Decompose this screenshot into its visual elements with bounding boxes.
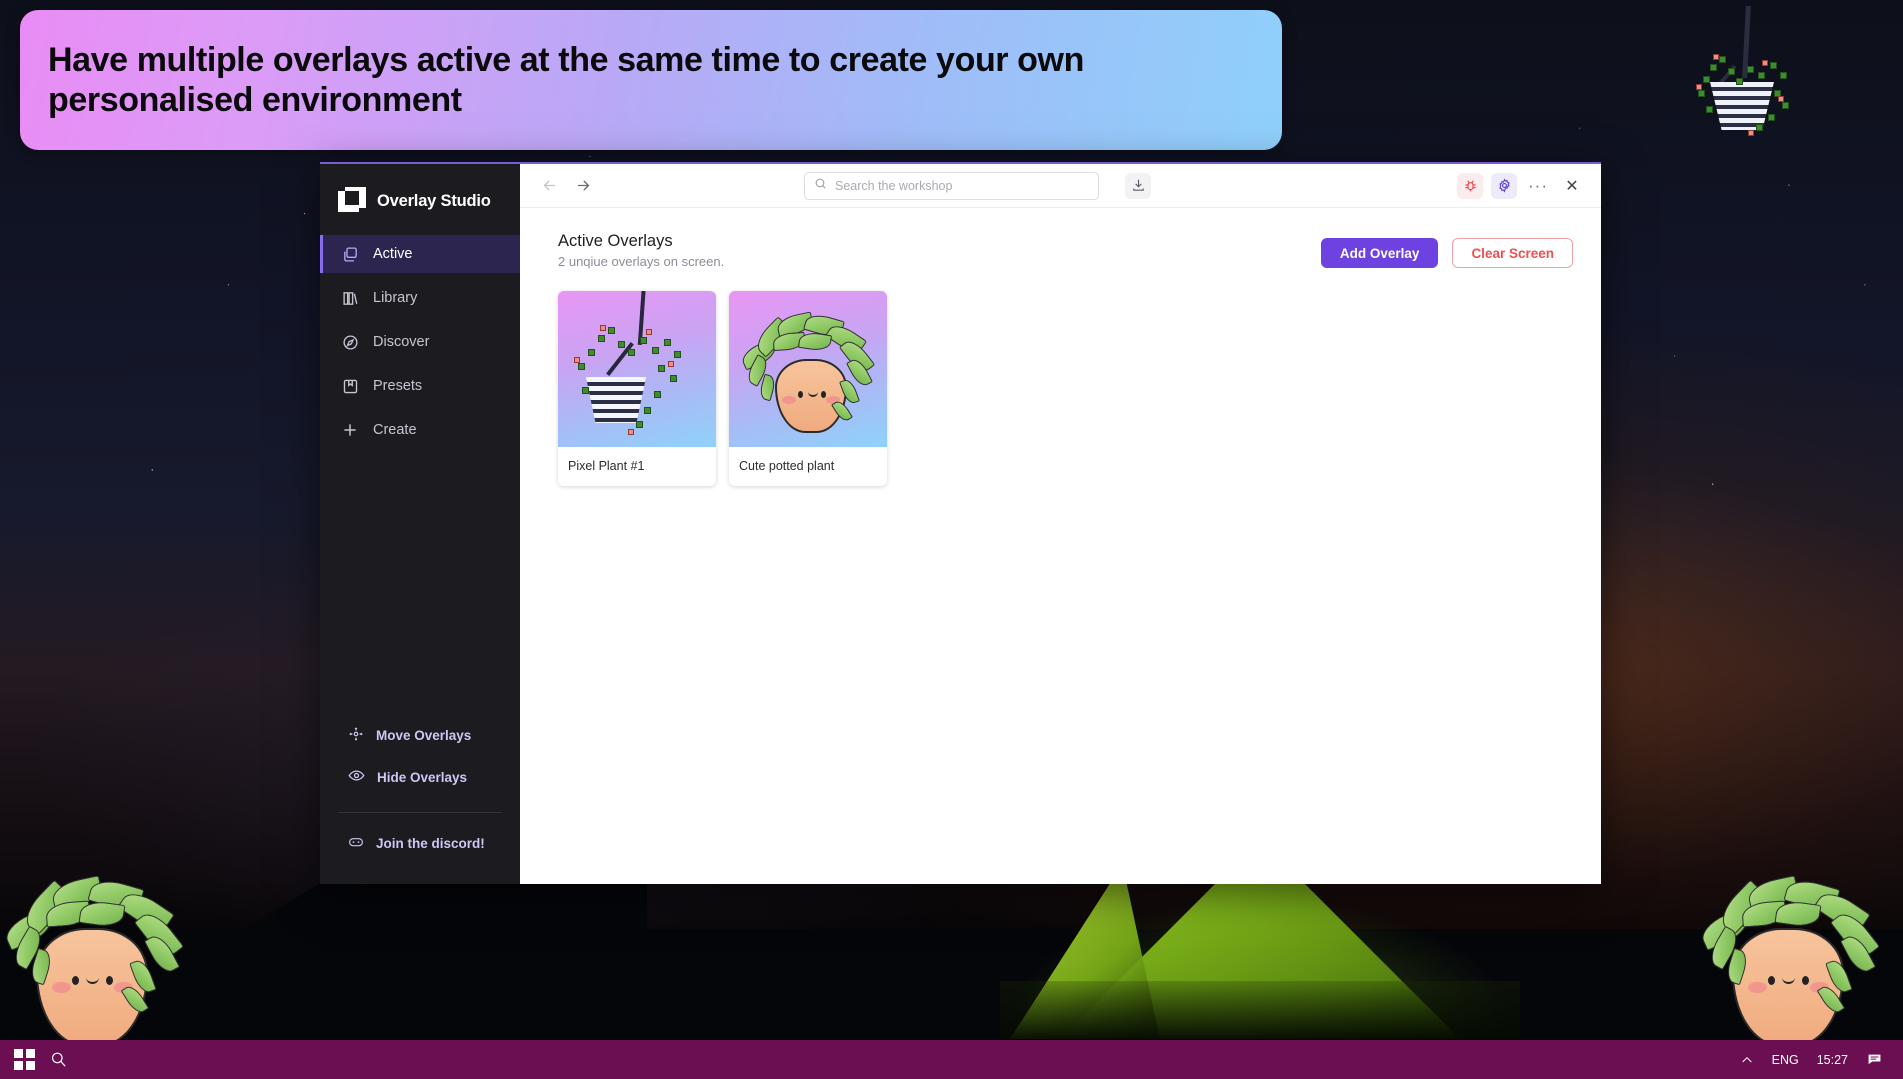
compass-icon: [341, 333, 359, 351]
content-area: Active Overlays 2 unqiue overlays on scr…: [520, 208, 1601, 884]
move-overlays-button[interactable]: Move Overlays: [320, 715, 520, 756]
eye-right: [1802, 976, 1809, 985]
overlay-thumbnail: [729, 291, 887, 447]
arrow-left-icon[interactable]: [536, 173, 562, 199]
windows-taskbar: ENG 15:27: [0, 1040, 1903, 1079]
download-icon[interactable]: [1125, 173, 1151, 199]
overlay-card[interactable]: Pixel Plant #1: [558, 291, 716, 486]
join-discord-button[interactable]: Join the discord!: [320, 823, 520, 864]
sidebar-item-create[interactable]: Create: [320, 411, 520, 449]
sidebar-divider: [338, 812, 502, 813]
eye-right: [106, 976, 113, 985]
overlay-card-label: Cute potted plant: [729, 447, 887, 486]
notification-icon[interactable]: [1866, 1051, 1883, 1068]
promo-banner: Have multiple overlays active at the sam…: [20, 10, 1282, 150]
chevron-up-icon[interactable]: [1740, 1053, 1754, 1067]
window-titlebar: ··· ✕: [520, 164, 1601, 208]
add-overlay-button[interactable]: Add Overlay: [1321, 238, 1439, 268]
clear-screen-button[interactable]: Clear Screen: [1452, 238, 1573, 268]
hide-overlays-label: Hide Overlays: [377, 770, 467, 785]
taskbar-tray: ENG 15:27: [1740, 1051, 1897, 1068]
sidebar-item-label: Discover: [373, 334, 429, 350]
sidebar-nav: Active Library Discover: [320, 235, 520, 455]
discord-icon: [348, 834, 364, 853]
sidebar-item-label: Presets: [373, 378, 422, 394]
desktop-overlay-pixel-hanging-plant[interactable]: [1686, 6, 1816, 136]
blush-left: [782, 396, 796, 404]
overlay-studio-logo-icon: [338, 187, 366, 215]
sidebar-item-label: Active: [373, 246, 413, 262]
overlay-thumbnail: [558, 291, 716, 447]
pot: [1708, 82, 1776, 130]
overlay-card-label: Pixel Plant #1: [558, 447, 716, 486]
layers-icon: [341, 245, 359, 263]
sidebar-item-label: Create: [373, 422, 417, 438]
page-title: Active Overlays: [558, 232, 724, 251]
app-brand-label: Overlay Studio: [377, 192, 491, 211]
blush-left: [1748, 982, 1767, 993]
move-icon: [348, 726, 364, 745]
sidebar-item-presets[interactable]: Presets: [320, 367, 520, 405]
desktop-overlay-kawaii-plant-left[interactable]: [0, 872, 194, 1042]
eye-left: [72, 976, 79, 985]
windows-start-icon[interactable]: [14, 1049, 35, 1070]
taskbar-clock[interactable]: 15:27: [1817, 1053, 1848, 1067]
join-discord-label: Join the discord!: [376, 836, 485, 851]
overlay-card[interactable]: Cute potted plant: [729, 291, 887, 486]
header-actions: Add Overlay Clear Screen: [1321, 232, 1573, 268]
eye-icon: [348, 767, 365, 787]
sidebar-item-label: Library: [373, 290, 417, 306]
grass-foreground: [1000, 981, 1520, 1039]
books-icon: [341, 289, 359, 307]
gear-icon[interactable]: [1491, 173, 1517, 199]
plus-icon: [341, 421, 359, 439]
sidebar-tools: Move Overlays Hide Overlays: [320, 715, 520, 868]
more-options-button[interactable]: ···: [1525, 173, 1551, 199]
pixel-hanging-plant-art: [558, 291, 716, 447]
taskbar-language[interactable]: ENG: [1772, 1053, 1799, 1067]
arrow-right-icon[interactable]: [570, 173, 596, 199]
eye-left: [1768, 976, 1775, 985]
eye-right: [821, 391, 826, 398]
eye-left: [798, 391, 803, 398]
app-brand: Overlay Studio: [320, 178, 520, 235]
sidebar-item-active[interactable]: Active: [320, 235, 520, 273]
sidebar: Overlay Studio Active Library: [320, 164, 520, 884]
page-subtitle: 2 unqiue overlays on screen.: [558, 254, 724, 269]
taskbar-left: [6, 1049, 68, 1070]
search-icon: [814, 177, 827, 195]
search-input[interactable]: [835, 179, 1089, 193]
main-panel: ··· ✕ Active Overlays 2 unqiue overlays …: [520, 164, 1601, 884]
sidebar-item-discover[interactable]: Discover: [320, 323, 520, 361]
sidebar-item-library[interactable]: Library: [320, 279, 520, 317]
bug-icon[interactable]: [1457, 173, 1483, 199]
close-icon[interactable]: ✕: [1559, 173, 1585, 199]
content-header: Active Overlays 2 unqiue overlays on scr…: [558, 232, 1573, 269]
search-icon[interactable]: [49, 1050, 68, 1069]
promo-banner-text: Have multiple overlays active at the sam…: [48, 40, 1254, 120]
search-box[interactable]: [804, 172, 1099, 200]
desktop-overlay-kawaii-plant-right[interactable]: [1690, 872, 1890, 1042]
hide-overlays-button[interactable]: Hide Overlays: [320, 756, 520, 798]
move-overlays-label: Move Overlays: [376, 728, 471, 743]
overlay-studio-window: Overlay Studio Active Library: [320, 162, 1601, 884]
overlay-card-grid: Pixel Plant #1: [558, 291, 1573, 486]
blush-left: [52, 982, 71, 993]
bookmark-icon: [341, 377, 359, 395]
